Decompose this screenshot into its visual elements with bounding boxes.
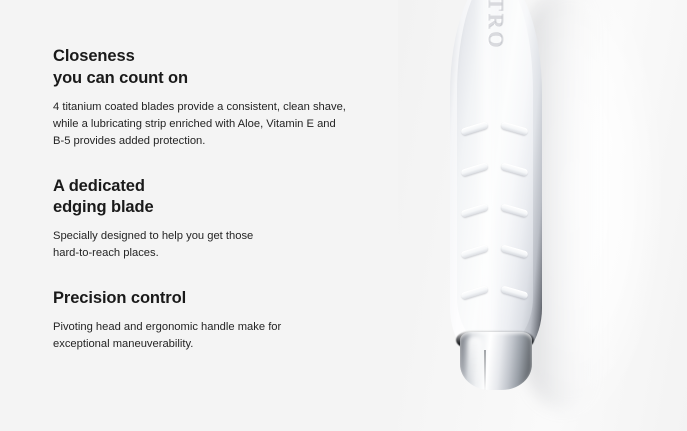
feature-body: Specially designed to help you get those… <box>53 228 383 262</box>
feature-item: Precision control Pivoting head and ergo… <box>53 288 383 353</box>
grip-ridge <box>461 121 489 136</box>
grip-ridges <box>457 125 533 345</box>
grip-ridge-pair <box>457 207 533 248</box>
grip-ridge <box>501 121 529 135</box>
grip-ridge-pair <box>457 166 533 207</box>
handle-body: QUATTRO <box>450 0 544 368</box>
feature-body: 4 titanium coated blades provide a consi… <box>53 99 383 150</box>
feature-item: A dedicated edging blade Specially desig… <box>53 176 383 263</box>
feature-heading: Closeness you can count on <box>53 46 383 90</box>
handle-rubber-grip: QUATTRO <box>457 0 533 349</box>
grip-ridge-pair <box>457 125 533 166</box>
handle-chrome-cap <box>460 332 532 390</box>
product-image: QUATTRO <box>398 0 687 431</box>
grip-ridge-pair <box>457 248 533 289</box>
razor-handle: QUATTRO <box>450 0 544 368</box>
grip-ridge-pair <box>457 289 533 330</box>
feature-list: Closeness you can count on 4 titanium co… <box>53 46 383 353</box>
feature-body: Pivoting head and ergonomic handle make … <box>53 319 383 353</box>
feature-item: Closeness you can count on 4 titanium co… <box>53 46 383 150</box>
feature-heading: Precision control <box>53 288 383 310</box>
chrome-cap-seam <box>484 350 486 390</box>
feature-heading: A dedicated edging blade <box>53 176 383 220</box>
product-feature-panel: Closeness you can count on 4 titanium co… <box>0 0 687 431</box>
